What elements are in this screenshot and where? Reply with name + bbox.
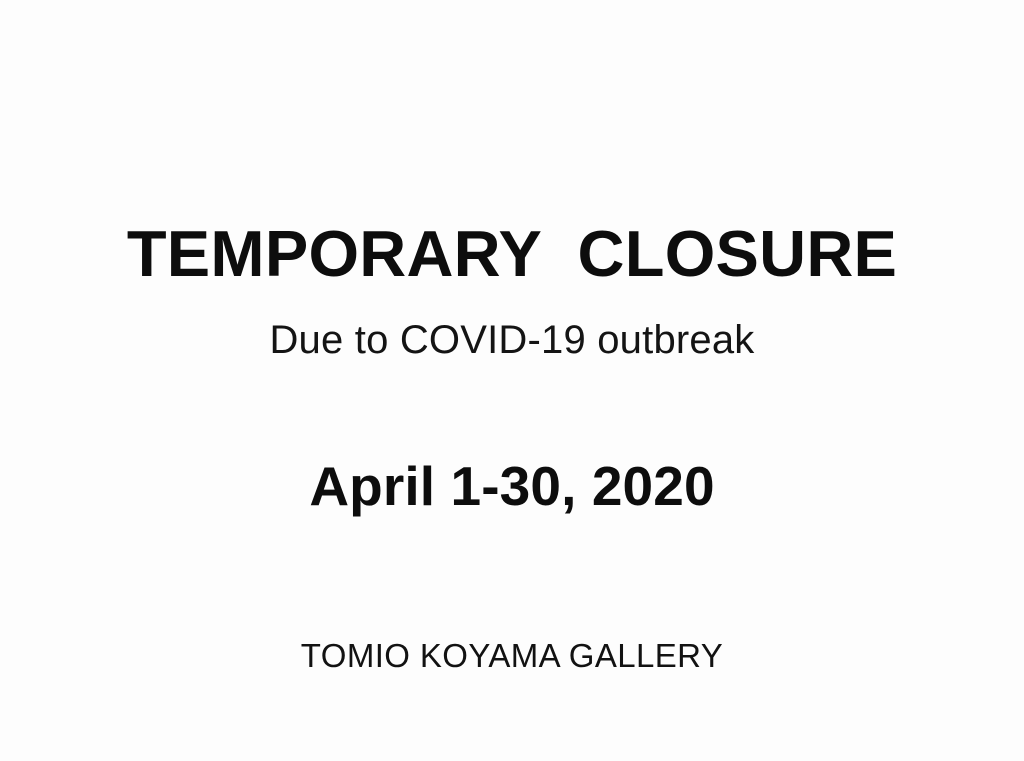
closure-reason-subtitle: Due to COVID-19 outbreak	[0, 320, 1024, 360]
closure-notice-poster: TEMPORARY CLOSURE Due to COVID-19 outbre…	[0, 0, 1024, 761]
gallery-name-footer: TOMIO KOYAMA GALLERY	[0, 639, 1024, 672]
notice-content-stack: TEMPORARY CLOSURE Due to COVID-19 outbre…	[0, 0, 1024, 761]
closure-date-range: April 1-30, 2020	[0, 459, 1024, 514]
closure-headline: TEMPORARY CLOSURE	[0, 221, 1024, 286]
